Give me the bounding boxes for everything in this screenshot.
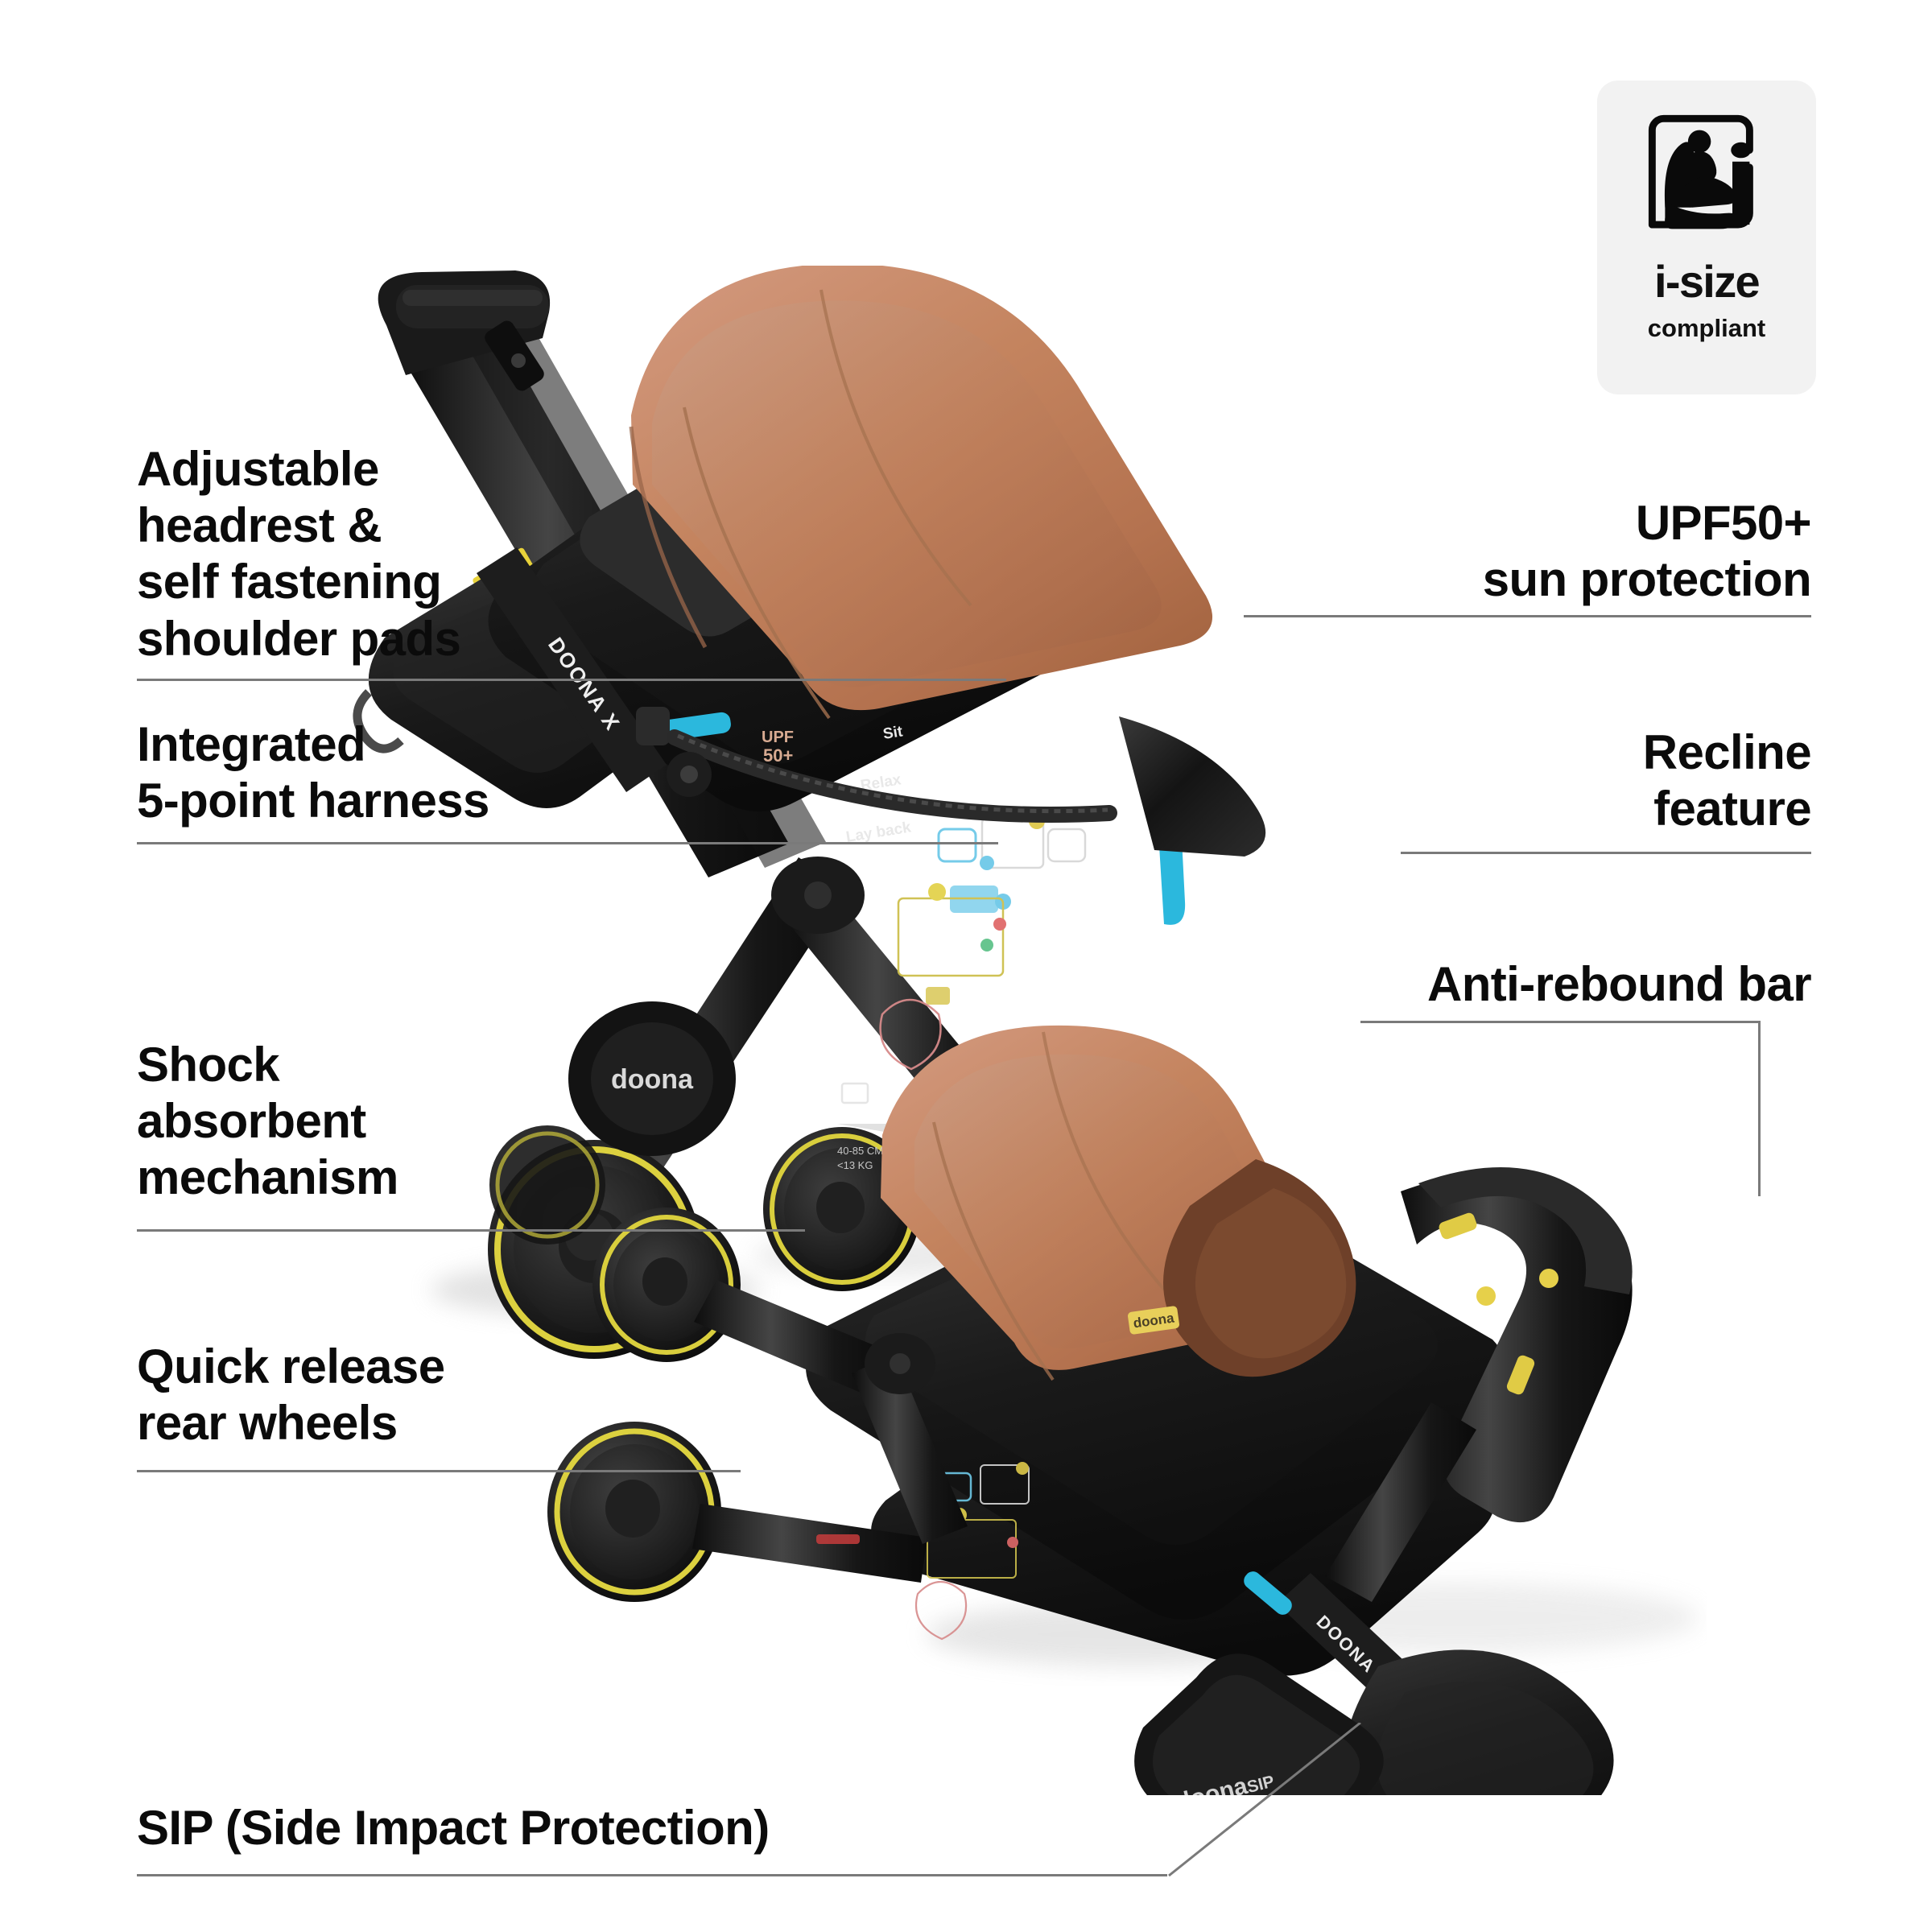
callout-anti-rebound-bar-label: Anti-rebound bar bbox=[1199, 956, 1811, 1013]
i-size-title: i-size bbox=[1654, 259, 1759, 304]
svg-text:<13 KG: <13 KG bbox=[837, 1159, 873, 1171]
i-size-compliance-badge: i-size compliant bbox=[1597, 80, 1816, 394]
leader-line-side-impact-protection bbox=[137, 1874, 1167, 1876]
callout-side-impact-protection-label: SIP (Side Impact Protection) bbox=[137, 1800, 1022, 1856]
svg-text:50+: 50+ bbox=[763, 745, 793, 766]
callout-shock-absorbent-label: Shock absorbent mechanism bbox=[137, 1037, 555, 1207]
leader-line-shock-absorbent bbox=[137, 1229, 805, 1232]
callout-upf-sun-protection-label: UPF50+ sun protection bbox=[1248, 495, 1811, 608]
recline-label-sit: Sit bbox=[881, 723, 904, 743]
leader-line-integrated-harness bbox=[137, 842, 998, 844]
callout-integrated-harness: Integrated 5-point harness bbox=[137, 716, 555, 829]
callout-side-impact-protection: SIP (Side Impact Protection) bbox=[137, 1800, 1022, 1856]
callout-adjustable-headrest-label: Adjustable headrest & self fastening sho… bbox=[137, 441, 555, 667]
i-size-subtitle: compliant bbox=[1648, 316, 1765, 341]
leader-line-quick-release-wheels bbox=[137, 1470, 741, 1472]
svg-text:40-85 CM: 40-85 CM bbox=[837, 1145, 883, 1157]
callout-integrated-harness-label: Integrated 5-point harness bbox=[137, 716, 555, 829]
leader-line-anti-rebound-bar-vertical bbox=[1758, 1021, 1761, 1196]
i-size-car-seat-pictogram bbox=[1635, 101, 1778, 245]
callout-recline-feature-label: Recline feature bbox=[1248, 724, 1811, 837]
callout-quick-release-wheels-label: Quick release rear wheels bbox=[137, 1339, 555, 1451]
callout-recline-feature: Recline feature bbox=[1248, 724, 1811, 837]
callout-quick-release-wheels: Quick release rear wheels bbox=[137, 1339, 555, 1451]
infographic-canvas: DOONA X Sit Relax Lay back bbox=[0, 0, 1932, 1932]
callout-shock-absorbent: Shock absorbent mechanism bbox=[137, 1037, 555, 1207]
callout-adjustable-headrest: Adjustable headrest & self fastening sho… bbox=[137, 441, 555, 667]
callout-upf-sun-protection: UPF50+ sun protection bbox=[1248, 495, 1811, 608]
leader-line-adjustable-headrest bbox=[137, 679, 1006, 681]
callout-anti-rebound-bar: Anti-rebound bar bbox=[1199, 956, 1811, 1013]
canopy-upf-mark: UPF bbox=[762, 729, 794, 746]
leader-line-sip-diagonal bbox=[1159, 1723, 1368, 1884]
wheel-hub-doona-logo: doona bbox=[611, 1064, 694, 1095]
leader-line-upf-sun-protection bbox=[1244, 615, 1811, 617]
leader-line-anti-rebound-bar bbox=[1360, 1021, 1761, 1023]
leader-line-recline-feature bbox=[1401, 852, 1811, 854]
